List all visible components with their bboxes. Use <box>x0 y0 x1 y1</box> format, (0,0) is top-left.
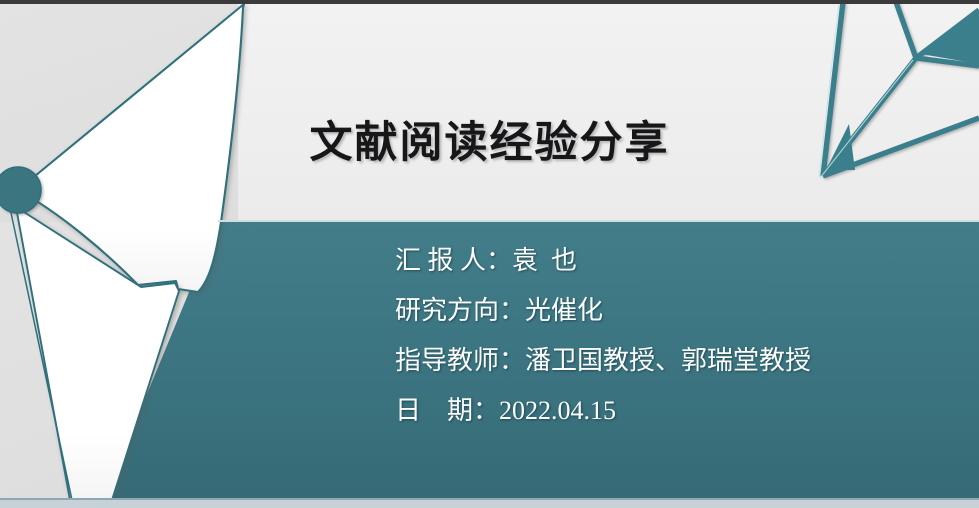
info-line-reporter: 汇 报 人：袁 也 <box>395 236 811 286</box>
presenter-info-block: 汇 报 人：袁 也 研究方向：光催化 指导教师：潘卫国教授、郭瑞堂教授 日 期：… <box>395 236 811 436</box>
bottom-strip <box>0 500 979 508</box>
bottom-strip-edge <box>0 498 979 500</box>
presentation-slide: 文献阅读经验分享 汇 报 人：袁 也 研究方向：光催化 指导教师：潘卫国教授、郭… <box>0 0 979 508</box>
window-top-bar <box>0 0 979 4</box>
info-line-research-field: 研究方向：光催化 <box>395 286 811 336</box>
page-title: 文献阅读经验分享 <box>0 108 979 170</box>
info-line-date: 日 期：2022.04.15 <box>395 386 811 436</box>
teal-circle-node <box>0 167 41 213</box>
info-line-advisors: 指导教师：潘卫国教授、郭瑞堂教授 <box>395 336 811 386</box>
